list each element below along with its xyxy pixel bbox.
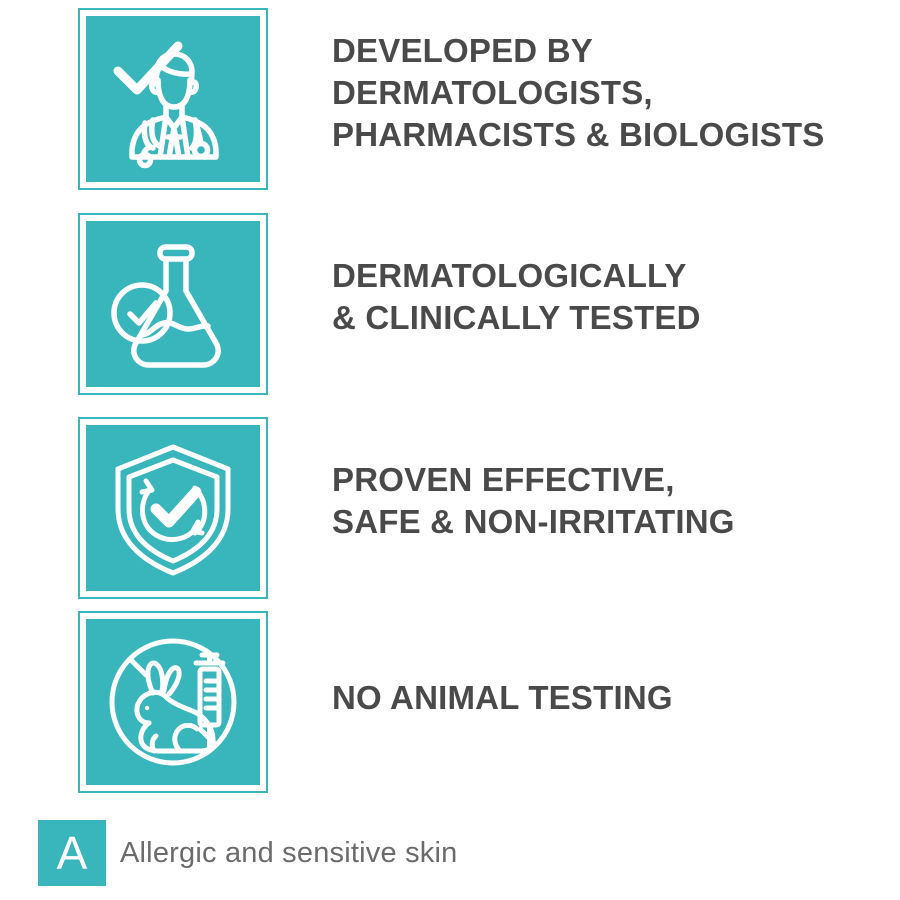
shield-refresh-checkmark-icon [86,425,260,591]
icon-tile-no-animal-testing [78,611,268,793]
allergic-badge: A [38,820,106,886]
infographic-page: DEVELOPED BY DERMATOLOGISTS, PHARMACISTS… [0,0,900,900]
doctor-checkmark-icon [86,16,260,182]
feature-text-developed-by: DEVELOPED BY DERMATOLOGISTS, PHARMACISTS… [332,30,892,156]
feature-text-dermatologically-tested: DERMATOLOGICALLY & CLINICALLY TESTED [332,255,892,339]
feature-text-proven-effective: PROVEN EFFECTIVE, SAFE & NON-IRRITATING [332,459,892,543]
footer: A Allergic and sensitive skin [0,820,900,890]
no-animal-testing-icon [86,619,260,785]
flask-checkmark-icon [86,221,260,387]
allergic-badge-letter: A [57,830,88,876]
icon-tile-developed-by [78,8,268,190]
footer-label: Allergic and sensitive skin [120,820,457,886]
icon-tile-proven-effective [78,417,268,599]
feature-text-no-animal-testing: NO ANIMAL TESTING [332,677,892,719]
icon-tile-dermatologically-tested [78,213,268,395]
